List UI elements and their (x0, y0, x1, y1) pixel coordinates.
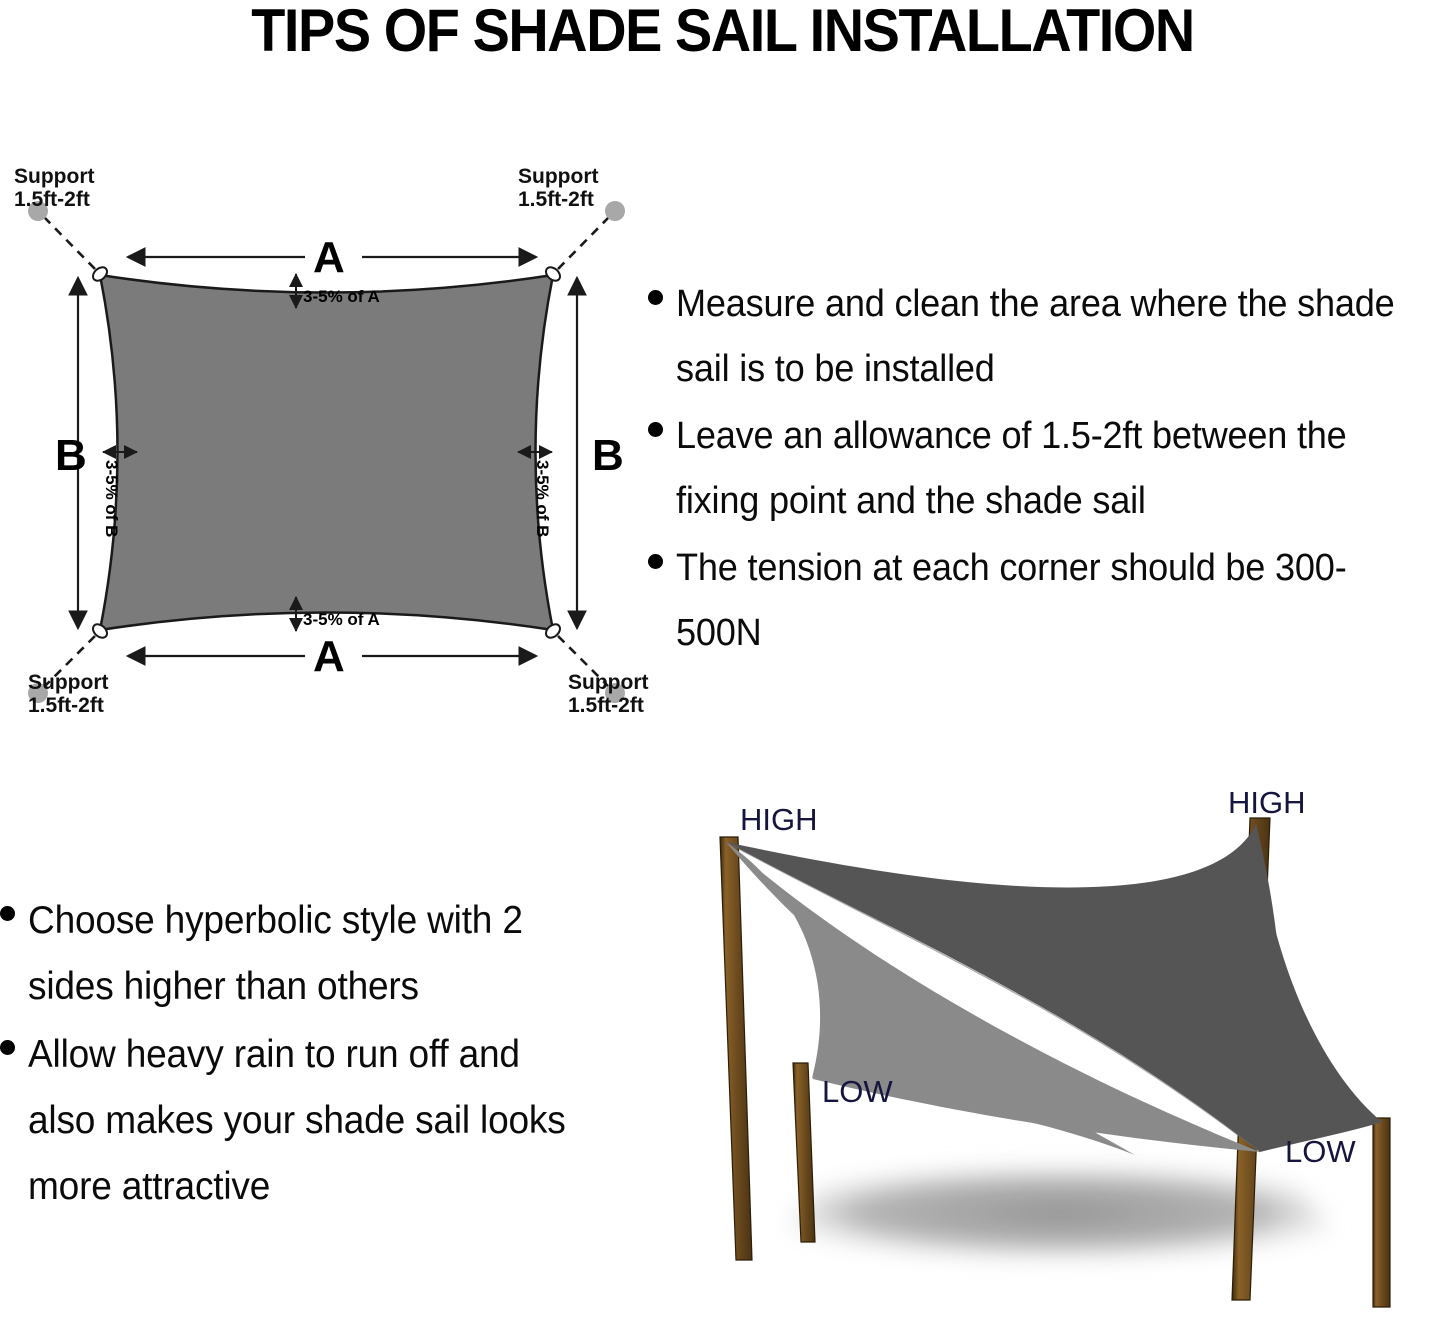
tip-text: Choose hyperbolic style with 2 sides hig… (28, 888, 590, 1020)
tip-text: Measure and clean the area where the sha… (676, 272, 1409, 402)
support-label-bottom-right-line1: Support (568, 671, 648, 694)
dim-curve-a-bottom-label: 3-5% of A (303, 610, 380, 629)
rect-sail-diagram-svg: Support 1.5ft-2ft Support 1.5ft-2ft Supp… (0, 160, 660, 740)
list-item: Leave an allowance of 1.5-2ft between th… (648, 404, 1445, 534)
tips-list-left: Choose hyperbolic style with 2 sides hig… (0, 888, 620, 1222)
support-label-top-right-line1: Support (518, 165, 598, 188)
bullet-icon (648, 290, 663, 305)
tips-list-right: Measure and clean the area where the sha… (648, 272, 1445, 668)
support-label-top-left-line1: Support (14, 165, 94, 188)
dim-a-top-label: A (313, 233, 345, 282)
rect-sail-diagram: Support 1.5ft-2ft Support 1.5ft-2ft Supp… (0, 160, 660, 740)
label-low-left: LOW (822, 1074, 893, 1109)
list-item: Measure and clean the area where the sha… (648, 272, 1445, 402)
support-label-bottom-left-line1: Support (28, 671, 108, 694)
bullet-icon (648, 422, 663, 437)
page-title: TIPS OF SHADE SAIL INSTALLATION (51, 0, 1395, 65)
label-high-left: HIGH (740, 802, 818, 837)
support-dot-top-right (605, 201, 625, 221)
bullet-icon (648, 554, 663, 569)
label-high-right: HIGH (1228, 785, 1306, 820)
support-label-bottom-right: Support 1.5ft-2ft (568, 671, 648, 717)
bullet-icon (0, 906, 15, 921)
dim-curve-b-right-label: 3-5% of B (533, 460, 552, 537)
tether-top-left (43, 216, 95, 269)
hyperbolic-sail-svg: HIGH HIGH LOW LOW (660, 780, 1445, 1319)
ground-shadow (760, 1165, 1360, 1260)
bullet-icon (0, 1040, 15, 1055)
tether-top-right (558, 216, 610, 269)
sail-shape (100, 275, 553, 630)
hyperbolic-sail-diagram: HIGH HIGH LOW LOW (660, 780, 1445, 1319)
list-item: Choose hyperbolic style with 2 sides hig… (0, 888, 620, 1020)
support-label-top-left: Support 1.5ft-2ft (14, 165, 94, 211)
post-right-low (1373, 1118, 1390, 1307)
tip-text: Allow heavy rain to run off and also mak… (28, 1022, 590, 1220)
dim-b-right-label: B (592, 431, 624, 480)
list-item: Allow heavy rain to run off and also mak… (0, 1022, 620, 1220)
support-label-bottom-left-line2: 1.5ft-2ft (28, 694, 104, 717)
dim-b-left-label: B (55, 431, 87, 480)
post-left-high (720, 837, 752, 1260)
support-label-top-right: Support 1.5ft-2ft (518, 165, 598, 211)
dim-curve-b-left-label: 3-5% of B (102, 460, 121, 537)
sail-panel-dark-lower (1213, 824, 1382, 1152)
support-label-top-right-line2: 1.5ft-2ft (518, 188, 594, 211)
label-low-right: LOW (1285, 1134, 1356, 1169)
list-item: The tension at each corner should be 300… (648, 536, 1445, 666)
dim-curve-a-top-label: 3-5% of A (303, 287, 380, 306)
dim-a-bottom-label: A (313, 632, 345, 681)
tip-text: The tension at each corner should be 300… (676, 536, 1409, 666)
tip-text: Leave an allowance of 1.5-2ft between th… (676, 404, 1409, 534)
support-label-bottom-left: Support 1.5ft-2ft (28, 671, 108, 717)
support-label-top-left-line2: 1.5ft-2ft (14, 188, 90, 211)
support-label-bottom-right-line2: 1.5ft-2ft (568, 694, 644, 717)
